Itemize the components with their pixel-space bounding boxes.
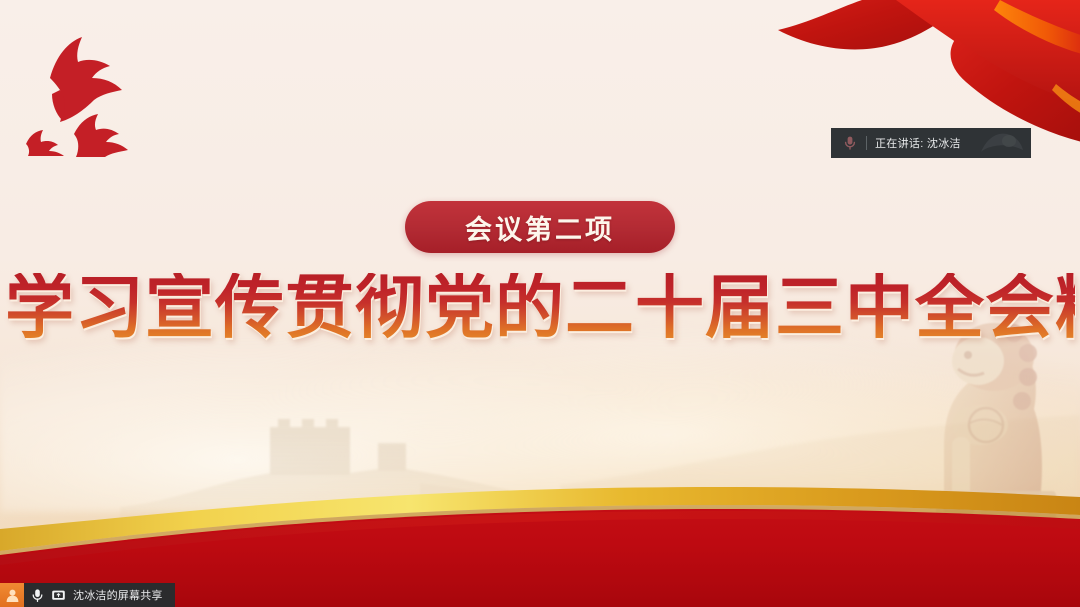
active-speaker-overlay[interactable]: 正在讲话: 沈冰洁: [831, 128, 1031, 158]
screen-share-stage: 会议第二项 学习宣传贯彻党的二十届三中全会精神 正在讲话: 沈冰洁: [0, 0, 1080, 607]
slide-title: 学习宣传贯彻党的二十届三中全会精神: [5, 273, 1075, 343]
person-avatar-icon: [0, 583, 24, 607]
speaker-video-thumbnail[interactable]: [975, 128, 1027, 158]
meeting-item-badge: 会议第二项: [405, 201, 675, 253]
screen-share-label: 沈冰洁的屏幕共享: [73, 587, 163, 603]
microphone-icon: [842, 135, 858, 151]
screen-share-status-bar[interactable]: 沈冰洁的屏幕共享: [0, 583, 175, 607]
screen-share-icon[interactable]: [51, 588, 66, 603]
meeting-item-badge-label: 会议第二项: [465, 208, 615, 247]
microphone-icon[interactable]: [30, 588, 45, 603]
overlay-divider: [866, 136, 867, 150]
dove-flock-icon: [16, 22, 146, 157]
